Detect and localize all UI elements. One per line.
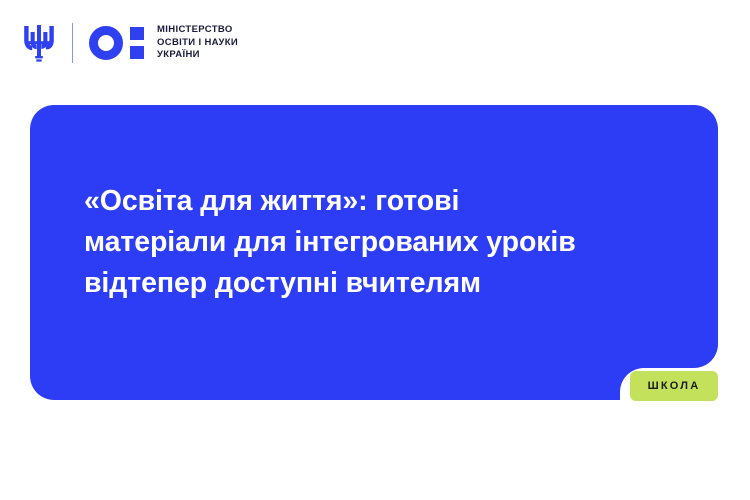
ministry-name-line-1: МІНІСТЕРСТВО	[157, 24, 238, 37]
ministry-name-line-3: УКРАЇНИ	[157, 49, 238, 62]
page-title: «Освіта для життя»: готові матеріали для…	[84, 181, 694, 304]
ukraine-trident-icon	[22, 21, 56, 65]
category-tag[interactable]: ШКОЛА	[630, 371, 718, 401]
logo-ring-icon	[89, 26, 123, 60]
headline-line-1: «Освіта для життя»: готові	[84, 181, 694, 222]
ministry-name-line-2: ОСВІТИ І НАУКИ	[157, 37, 238, 50]
mon-o-colon-logo-icon	[89, 26, 144, 60]
headline-line-2: матеріали для інтегрованих уроків	[84, 222, 694, 263]
brand-header: МІНІСТЕРСТВО ОСВІТИ І НАУКИ УКРАЇНИ	[22, 16, 238, 70]
logo-divider	[72, 23, 73, 63]
logo-squares-icon	[130, 27, 144, 59]
ministry-name: МІНІСТЕРСТВО ОСВІТИ І НАУКИ УКРАЇНИ	[157, 24, 238, 62]
headline-line-3: відтепер доступні вчителям	[84, 263, 694, 304]
